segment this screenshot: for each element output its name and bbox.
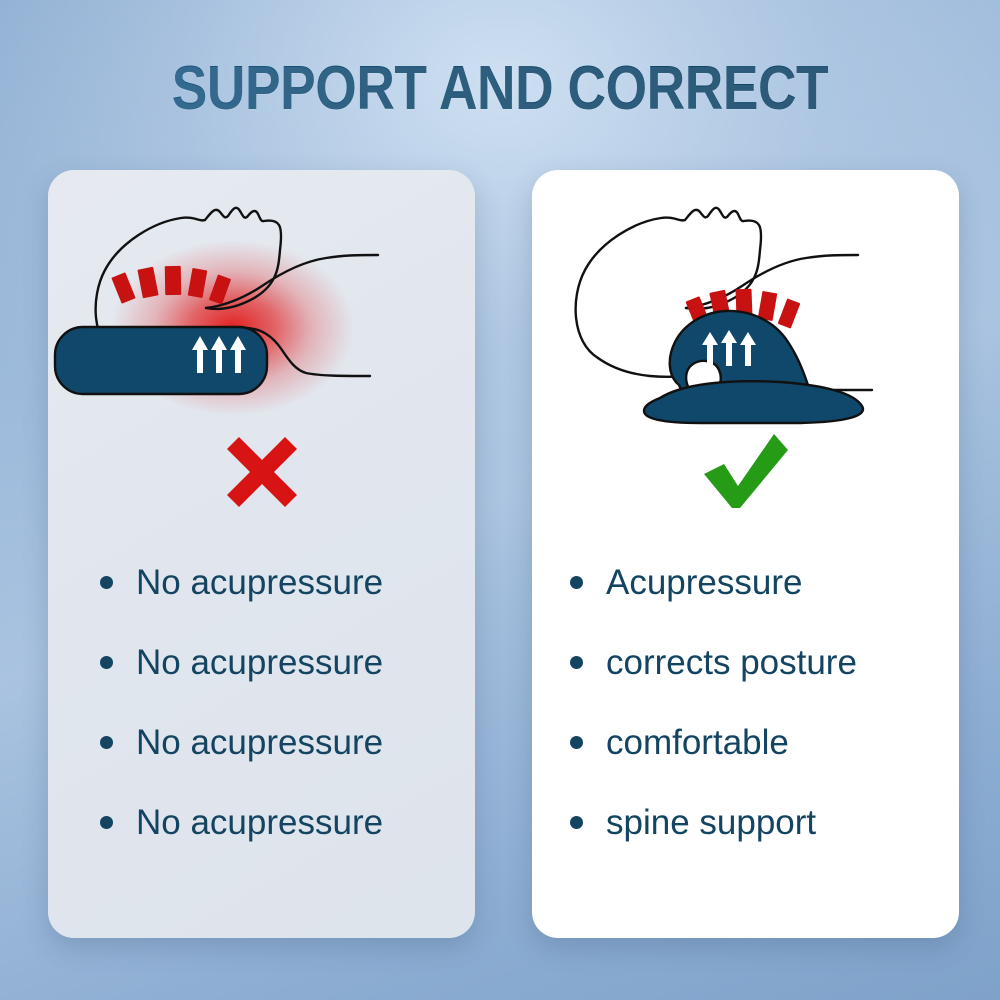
list-item: spine support <box>532 782 959 862</box>
poster-canvas: SUPPORT AND CORRECT <box>0 0 1000 1000</box>
tick-3 <box>165 266 182 295</box>
list-item: corrects posture <box>532 622 959 702</box>
bullet-dot-icon <box>570 816 583 829</box>
list-item-label: No acupressure <box>136 645 383 680</box>
comparison-card-good: Acupressure corrects posture comfortable… <box>532 170 959 938</box>
list-item: comfortable <box>532 702 959 782</box>
list-item-label: Acupressure <box>606 565 802 600</box>
feature-list-bad: No acupressure No acupressure No acupres… <box>48 542 475 862</box>
list-item: No acupressure <box>48 542 475 622</box>
list-item-label: No acupressure <box>136 565 383 600</box>
check-icon <box>698 428 794 516</box>
list-item: Acupressure <box>532 542 959 622</box>
tick-4 <box>758 291 778 321</box>
pillow-base <box>644 381 863 423</box>
bullet-dot-icon <box>100 816 113 829</box>
verdict-good <box>532 428 959 538</box>
bullet-dot-icon <box>100 656 113 669</box>
feature-list-good: Acupressure corrects posture comfortable… <box>532 542 959 862</box>
bullet-dot-icon <box>100 736 113 749</box>
bullet-dot-icon <box>570 576 583 589</box>
page-title: SUPPORT AND CORRECT <box>70 58 930 120</box>
list-item-label: comfortable <box>606 725 789 760</box>
list-item: No acupressure <box>48 622 475 702</box>
list-item: No acupressure <box>48 702 475 782</box>
tick-5 <box>778 298 801 328</box>
bullet-dot-icon <box>570 736 583 749</box>
bullet-dot-icon <box>570 656 583 669</box>
flat-pillow-illustration <box>48 170 475 438</box>
pressure-arrows <box>702 330 756 366</box>
comparison-card-bad: No acupressure No acupressure No acupres… <box>48 170 475 938</box>
list-item-label: No acupressure <box>136 805 383 840</box>
cross-icon <box>218 428 306 516</box>
bullet-dot-icon <box>100 576 113 589</box>
list-item: No acupressure <box>48 782 475 862</box>
list-item-label: corrects posture <box>606 645 857 680</box>
contoured-pillow-illustration <box>532 170 959 438</box>
pressure-arrows <box>192 336 246 373</box>
verdict-bad <box>48 428 475 538</box>
list-item-label: No acupressure <box>136 725 383 760</box>
list-item-label: spine support <box>606 805 816 840</box>
